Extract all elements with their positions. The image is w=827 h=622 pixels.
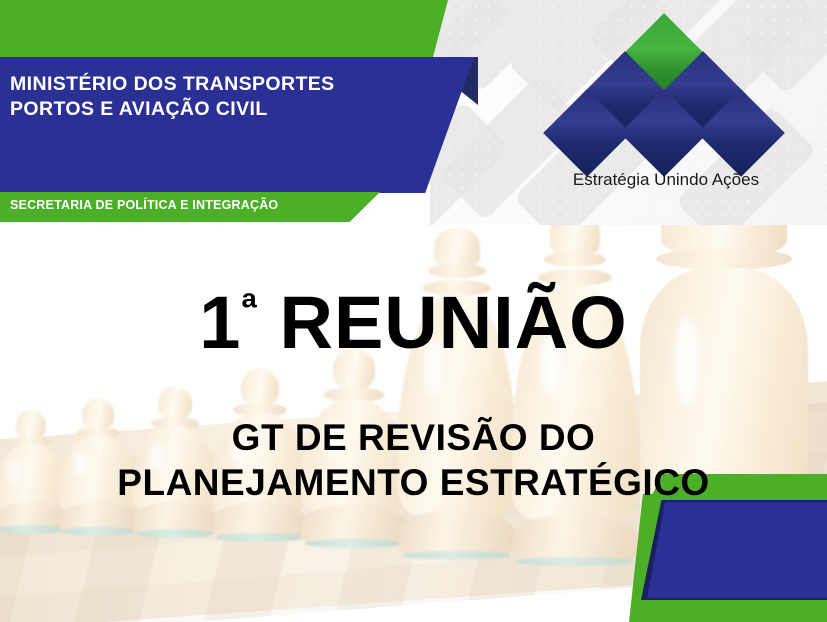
header-green-band — [0, 0, 448, 58]
footer-blue-ribbon — [647, 502, 827, 598]
page-title: 1ª REUNIÃO — [0, 286, 827, 360]
logo-tagline: Estratégia Unindo Ações — [546, 170, 786, 190]
headline-ordinal: ª — [241, 284, 258, 331]
ministry-title: MINISTÉRIO DOS TRANSPORTES PORTOS E AVIA… — [10, 72, 410, 122]
subtitle-line1: GT DE REVISÃO DO — [0, 415, 827, 460]
headline-number: 1 — [199, 281, 241, 364]
ministry-title-line1: MINISTÉRIO DOS TRANSPORTES — [10, 73, 335, 95]
estrategia-unindo-acoes-logo — [556, 26, 772, 164]
presentation-slide: Estratégia Unindo Ações MINISTÉRIO DOS T… — [0, 0, 827, 622]
secretaria-label: SECRETARIA DE POLÍTICA E INTEGRAÇÃO — [10, 198, 278, 212]
ministry-title-line2: PORTOS E AVIAÇÃO CIVIL — [10, 97, 410, 122]
subtitle-line2: PLANEJAMENTO ESTRATÉGICO — [0, 460, 827, 505]
headline-word: REUNIÃO — [280, 281, 628, 364]
page-subtitle: GT DE REVISÃO DO PLANEJAMENTO ESTRATÉGIC… — [0, 415, 827, 505]
